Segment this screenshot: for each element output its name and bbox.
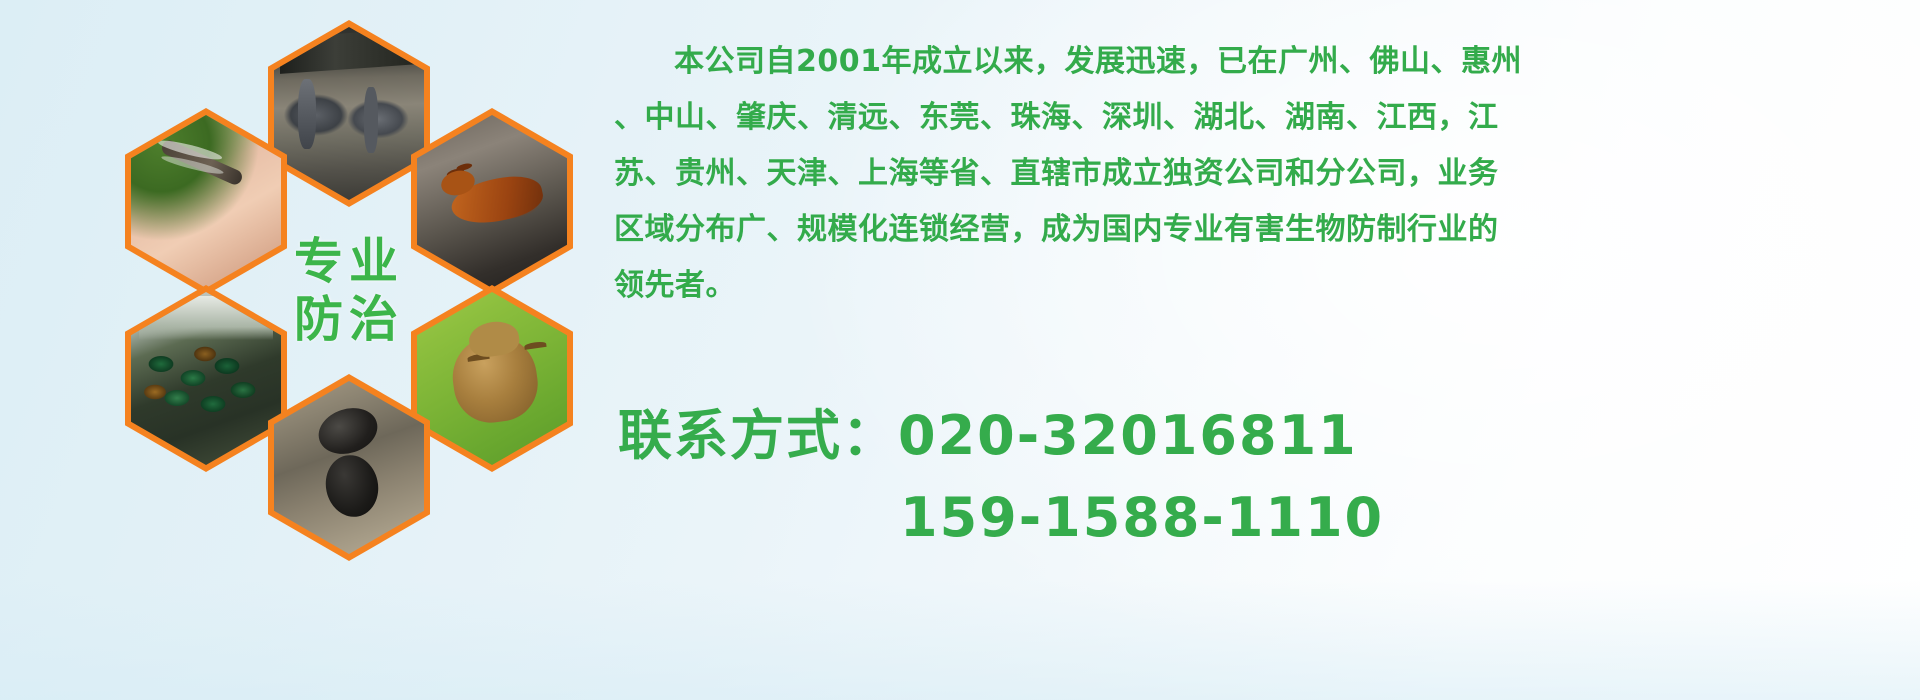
cockroach-photo-art: [417, 115, 567, 288]
slogan-line-2: 防治: [294, 291, 404, 349]
hex-cell-slogan: 专业 防治: [268, 197, 430, 384]
cockroach-photo: [417, 115, 567, 288]
contact-phone-mobile[interactable]: 159-1588-1110: [618, 477, 1908, 559]
rats-photo: [274, 27, 424, 200]
stinkbug-photo-art: [417, 292, 567, 465]
hex-cell-ants: [268, 374, 430, 561]
flies-photo: [131, 292, 281, 465]
intro-line: 区域分布广、规模化连锁经营，成为国内专业有害生物防制行业的: [614, 202, 1904, 258]
hex-cell-rats: [268, 20, 430, 207]
slogan-line-1: 专业: [294, 233, 404, 291]
ants-photo-art: [274, 381, 424, 554]
slogan-text: 专业 防治: [294, 233, 404, 349]
rats-photo-art: [274, 27, 424, 200]
mosquito-photo: [131, 115, 281, 288]
intro-line: 、中山、肇庆、清远、东莞、珠海、深圳、湖北、湖南、江西，江: [614, 90, 1904, 146]
hex-cell-flies: [125, 285, 287, 472]
intro-line: 本公司自2001年成立以来，发展迅速，已在广州、佛山、惠州: [614, 34, 1904, 90]
hex-cell-stinkbug: [411, 285, 573, 472]
intro-line: 苏、贵州、天津、上海等省、直辖市成立独资公司和分公司，业务: [614, 146, 1904, 202]
hex-cell-cockroach: [411, 108, 573, 295]
contact-block: 联系方式：020-32016811 159-1588-1110: [618, 395, 1908, 559]
intro-line: 领先者。: [614, 258, 1904, 314]
flies-photo-art: [131, 292, 281, 465]
ants-photo: [274, 381, 424, 554]
contact-phone-primary[interactable]: 联系方式：020-32016811: [618, 395, 1908, 477]
mosquito-photo-art: [131, 115, 281, 288]
stinkbug-photo: [417, 292, 567, 465]
hex-cell-mosquito: [125, 108, 287, 295]
company-intro: 本公司自2001年成立以来，发展迅速，已在广州、佛山、惠州 、中山、肇庆、清远、…: [614, 34, 1904, 314]
honeycomb-collage: 专业 防治: [105, 10, 605, 570]
promo-banner: 专业 防治 本公司自2001年成立以来，发展迅速，已在广州、佛山、惠州 、中山、…: [0, 0, 1920, 700]
